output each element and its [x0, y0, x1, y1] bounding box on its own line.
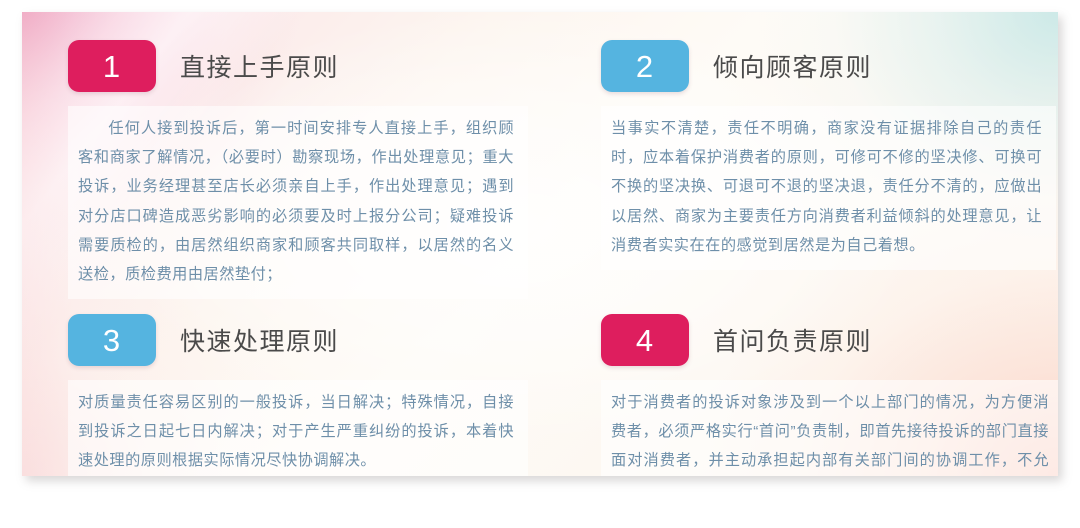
- principle-4-body: 对于消费者的投诉对象涉及到一个以上部门的情况，为方便消费者，必须严格实行“首问”…: [601, 380, 1058, 476]
- principle-2-body: 当事实不清楚，责任不明确，商家没有证据排除自己的责任时，应本着保护消费者的原则，…: [601, 106, 1056, 270]
- principle-2-header: 2 倾向顾客原则: [601, 40, 1058, 92]
- principle-1-number-badge: 1: [68, 40, 156, 92]
- principle-1-body: 任何人接到投诉后，第一时间安排专人直接上手，组织顾客和商家了解情况，（必要时）勘…: [68, 106, 528, 299]
- principle-block-2: 2 倾向顾客原则 当事实不清楚，责任不明确，商家没有证据排除自己的责任时，应本着…: [587, 40, 1058, 312]
- poster-card: 1 直接上手原则 任何人接到投诉后，第一时间安排专人直接上手，组织顾客和商家了解…: [22, 12, 1058, 476]
- poster-frame: 1 直接上手原则 任何人接到投诉后，第一时间安排专人直接上手，组织顾客和商家了解…: [0, 0, 1080, 528]
- principle-block-4: 4 首问负责原则 对于消费者的投诉对象涉及到一个以上部门的情况，为方便消费者，必…: [587, 312, 1058, 476]
- principle-4-title: 首问负责原则: [713, 322, 872, 358]
- principle-block-3: 3 快速处理原则 对质量责任容易区别的一般投诉，当日解决；特殊情况，自接到投诉之…: [68, 312, 563, 476]
- principle-3-number-badge: 3: [68, 314, 156, 366]
- principle-2-number-badge: 2: [601, 40, 689, 92]
- principle-1-title: 直接上手原则: [180, 48, 339, 84]
- principles-grid: 1 直接上手原则 任何人接到投诉后，第一时间安排专人直接上手，组织顾客和商家了解…: [22, 12, 1058, 476]
- principle-4-header: 4 首问负责原则: [601, 314, 1058, 366]
- principle-3-title: 快速处理原则: [180, 322, 339, 358]
- principle-3-header: 3 快速处理原则: [68, 314, 563, 366]
- principle-3-body: 对质量责任容易区别的一般投诉，当日解决；特殊情况，自接到投诉之日起七日内解决；对…: [68, 380, 528, 476]
- principle-4-number-badge: 4: [601, 314, 689, 366]
- principle-2-title: 倾向顾客原则: [713, 48, 872, 84]
- principle-block-1: 1 直接上手原则 任何人接到投诉后，第一时间安排专人直接上手，组织顾客和商家了解…: [68, 40, 563, 312]
- principle-1-header: 1 直接上手原则: [68, 40, 563, 92]
